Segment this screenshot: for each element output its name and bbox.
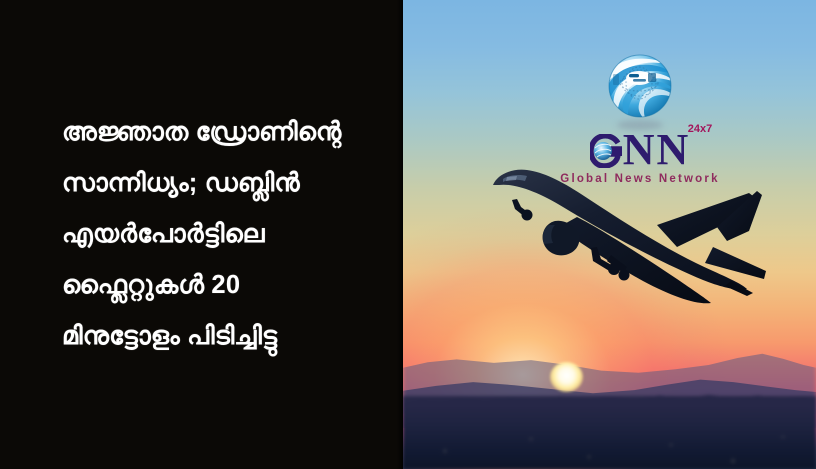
town-silhouette <box>403 396 816 469</box>
sun-disc <box>550 362 583 392</box>
headline-line-3: എയർപോർട്ടിലെ <box>62 209 395 260</box>
headline-panel: അജ്ഞാത ഡ്രോണിന്റെ സാന്നിധ്യം; ഡബ്ലിൻ എയർ… <box>0 0 403 469</box>
gnn-logo: NN 24x7 Global News Network <box>555 52 725 180</box>
globe-icon <box>603 52 677 124</box>
logo-24x7-badge: 24x7 <box>688 124 712 135</box>
logo-wordmark-text: NN <box>623 125 691 174</box>
headline-line-5: മിനുട്ടോളം പിടിച്ചിട്ടു <box>62 311 395 362</box>
town-lights <box>403 411 816 469</box>
headline-line-2: സാന്നിധ്യം; ഡബ്ലിൻ <box>62 158 395 209</box>
sunset-airplane-photo: NN 24x7 Global News Network <box>403 0 816 469</box>
logo-wordmark: NN 24x7 <box>590 128 691 172</box>
logo-tagline: Global News Network <box>555 173 725 185</box>
headline-line-4: ഫ്ലൈറ്റുകൾ 20 <box>62 260 395 311</box>
news-graphic-card: അജ്ഞാത ഡ്രോണിന്റെ സാന്നിധ്യം; ഡബ്ലിൻ എയർ… <box>0 0 816 469</box>
logo-g-globe-mark <box>590 134 622 168</box>
headline-line-1: അജ്ഞാത ഡ്രോണിന്റെ <box>62 107 395 158</box>
